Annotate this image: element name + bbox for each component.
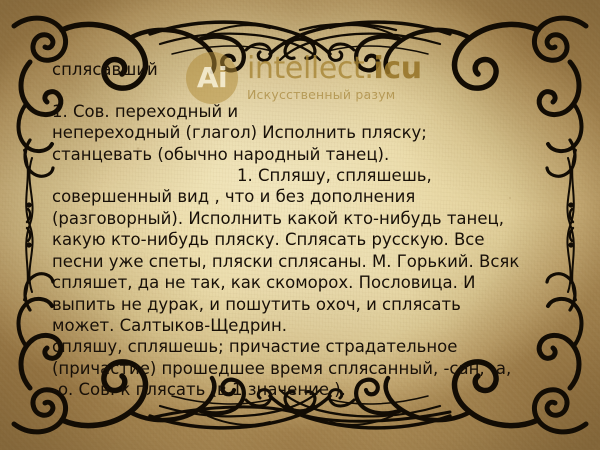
definition-line: какую кто-нибудь пляску. Сплясать русску… <box>52 229 552 250</box>
entry-definition-body: 1. Сов. переходный и непереходный (глаго… <box>52 101 552 401</box>
definition-line: 1. Сов. переходный и <box>52 101 552 122</box>
definition-line: станцевать (обычно народный танец). <box>52 144 552 165</box>
definition-line: выпить не дурак, и пошутить охоч, и спля… <box>52 294 552 315</box>
definition-line-indented: 1. Спляшу, спляшешь, <box>52 165 552 186</box>
definition-line: спляшет, да не так, как скоморох. Послов… <box>52 272 552 293</box>
definition-line: -о. Сов. к плясать (в 1 значение ). <box>52 379 552 400</box>
dictionary-entry: сплясавший 1. Сов. переходный и неперехо… <box>52 60 552 401</box>
entry-headword: сплясавший <box>52 60 552 81</box>
definition-line: спляшу, спляшешь; причастие страдательно… <box>52 336 552 357</box>
definition-line: (причастие) прошедшее время сплясанный, … <box>52 358 552 379</box>
parchment-dictionary-page: Ai intellect.icu Искусственный разум спл… <box>0 0 600 450</box>
definition-line: песни уже спеты, пляски сплясаны. М. Гор… <box>52 251 552 272</box>
definition-line: может. Салтыков-Щедрин. <box>52 315 552 336</box>
definition-line: совершенный вид , что и без дополнения <box>52 186 552 207</box>
definition-line: (разговорный). Исполнить какой кто-нибуд… <box>52 208 552 229</box>
definition-line: непереходный (глагол) Исполнить пляску; <box>52 122 552 143</box>
